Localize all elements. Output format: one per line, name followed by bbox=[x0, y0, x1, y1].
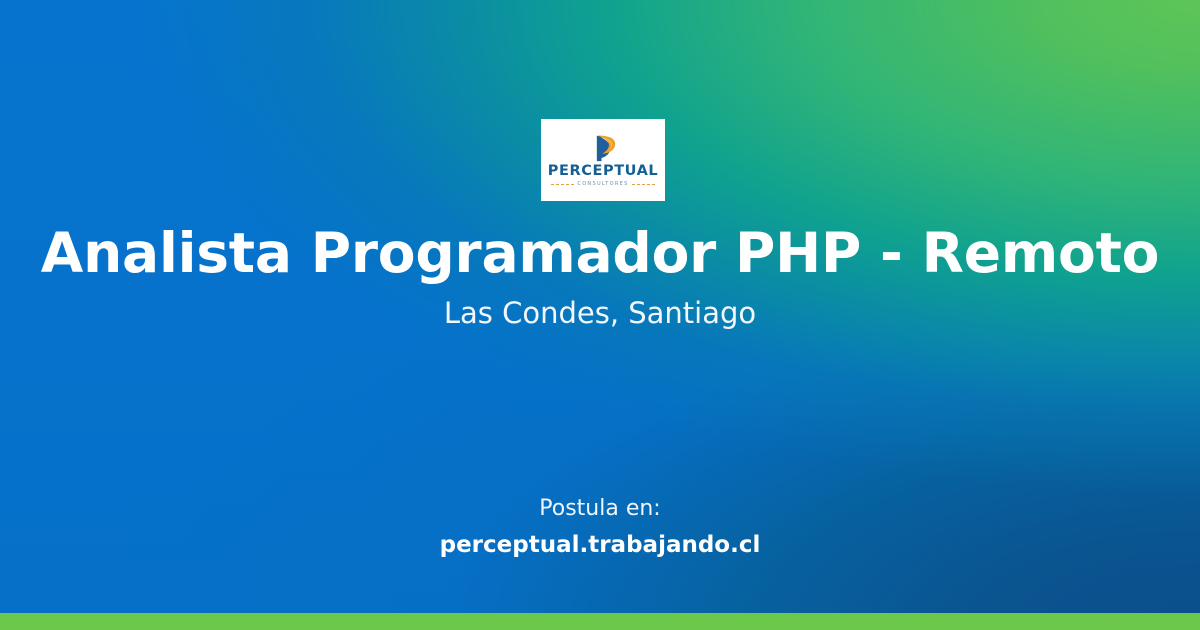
job-posting-poster: PERCEPTUAL CONSULTORES Analista Programa… bbox=[0, 0, 1200, 630]
apply-block: Postula en: perceptual.trabajando.cl bbox=[0, 494, 1200, 560]
logo-rule-left bbox=[551, 184, 574, 185]
company-wordmark: PERCEPTUAL bbox=[548, 164, 659, 179]
company-logo-card: PERCEPTUAL CONSULTORES bbox=[541, 119, 665, 201]
job-title: Analista Programador PHP - Remoto bbox=[0, 222, 1200, 284]
apply-url[interactable]: perceptual.trabajando.cl bbox=[0, 530, 1200, 560]
company-subtext: CONSULTORES bbox=[574, 182, 631, 187]
company-subtext-row: CONSULTORES bbox=[551, 182, 655, 187]
apply-label: Postula en: bbox=[0, 494, 1200, 524]
logo-rule-right bbox=[632, 184, 655, 185]
bottom-accent-bar bbox=[0, 613, 1200, 630]
headline-block: Analista Programador PHP - Remoto Las Co… bbox=[0, 222, 1200, 330]
perceptual-p-mark-icon bbox=[584, 133, 622, 163]
job-location: Las Condes, Santiago bbox=[0, 296, 1200, 330]
